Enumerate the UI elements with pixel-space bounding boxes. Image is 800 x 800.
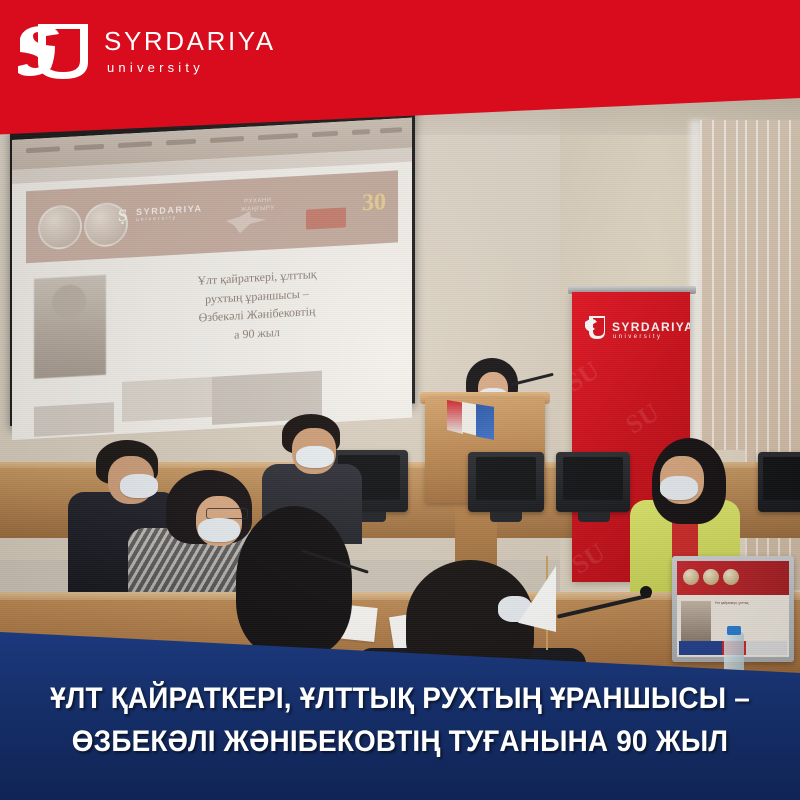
slide-header-band: Ṣ SYRDARIYA university РУХАНИ ЖАҢҒЫРУ 30 — [26, 170, 398, 263]
brand-name: SYRDARIYA — [104, 28, 276, 54]
slide-stamp-icon — [306, 207, 346, 229]
slide-title: Ұлт қайраткері, ұлттық рухтың ұраншысы –… — [112, 260, 402, 351]
desk-flag-white-icon — [462, 402, 478, 436]
rollup-su-mark-icon — [584, 314, 606, 340]
su-monogram-icon — [18, 22, 90, 80]
brand-logo: SYRDARIYA university — [18, 22, 276, 80]
rollup-brand-name: SYRDARIYA — [612, 320, 690, 334]
display-portrait — [681, 601, 711, 641]
attendee-front-hair — [236, 506, 352, 656]
caption-line-1: ҰЛТ ҚАЙРАТКЕРІ, ҰЛТТЫҚ РУХТЫҢ ҰРАНШЫСЫ – — [28, 678, 772, 721]
anniversary-badge: 30 — [362, 189, 386, 217]
janghyru-label: ЖАҢҒЫРУ — [241, 205, 275, 213]
caption-text: ҰЛТ ҚАЙРАТКЕРІ, ҰЛТТЫҚ РУХТЫҢ ҰРАНШЫСЫ –… — [0, 678, 800, 763]
attendee-silver-mask — [198, 518, 240, 542]
display-seal-icon — [723, 569, 739, 585]
brand-text: SYRDARIYA university — [104, 28, 276, 75]
display-seal-icon — [703, 569, 719, 585]
slide-content: Ṣ SYRDARIYA university РУХАНИ ЖАҢҒЫРУ 30 — [12, 162, 412, 440]
monitor — [468, 452, 544, 512]
rollup-brand-sub: university — [613, 334, 690, 340]
rollup-brand: SYRDARIYA university — [612, 320, 690, 340]
desk-flag-red-icon — [447, 400, 463, 434]
display-slide-band — [677, 561, 789, 595]
display-seal-icon — [683, 569, 699, 585]
attendee-right-mask — [660, 476, 698, 500]
ruhani-janghyru-logo: РУХАНИ ЖАҢҒЫРУ — [241, 197, 275, 214]
slide-su-mark-icon: Ṣ — [118, 205, 134, 226]
ruhani-label: РУХАНИ — [244, 197, 271, 205]
water-bottle-cap — [727, 626, 741, 635]
monitor-stand — [578, 512, 610, 522]
rollup-watermark: SU — [621, 397, 665, 440]
monitor-stand — [490, 512, 522, 522]
display-title-line1: Ұлт қайраткері, ұлттық — [715, 601, 748, 605]
slide-thumb-2 — [122, 377, 212, 422]
rollup-watermark: SU — [572, 537, 611, 580]
brand-sub: university — [107, 60, 276, 75]
display-slide-title: Ұлт қайраткері, ұлттық — [715, 601, 785, 606]
caption-line-2: ӨЗБЕКӘЛІ ЖӘНІБЕКОВТІҢ ТУҒАНЫНА 90 ЖЫЛ — [28, 721, 772, 764]
social-media-post-card: Ṣ SYRDARIYA university РУХАНИ ЖАҢҒЫРУ 30 — [0, 0, 800, 800]
emblem-kazakhstan-icon — [38, 204, 82, 250]
attendee-left-mask — [120, 474, 158, 498]
desk-flag-blue-icon — [476, 404, 494, 440]
slide-thumb-1 — [34, 402, 114, 436]
attendee-back-mask — [296, 446, 334, 468]
projector-screen: Ṣ SYRDARIYA university РУХАНИ ЖАҢҒЫРУ 30 — [12, 118, 412, 440]
desk-microphone-head — [640, 586, 652, 598]
monitor — [556, 452, 630, 512]
slide-portrait-photo — [34, 275, 106, 379]
rollup-watermark: SU — [572, 355, 605, 398]
monitor — [758, 452, 800, 512]
slide-brand: SYRDARIYA university — [136, 203, 203, 223]
